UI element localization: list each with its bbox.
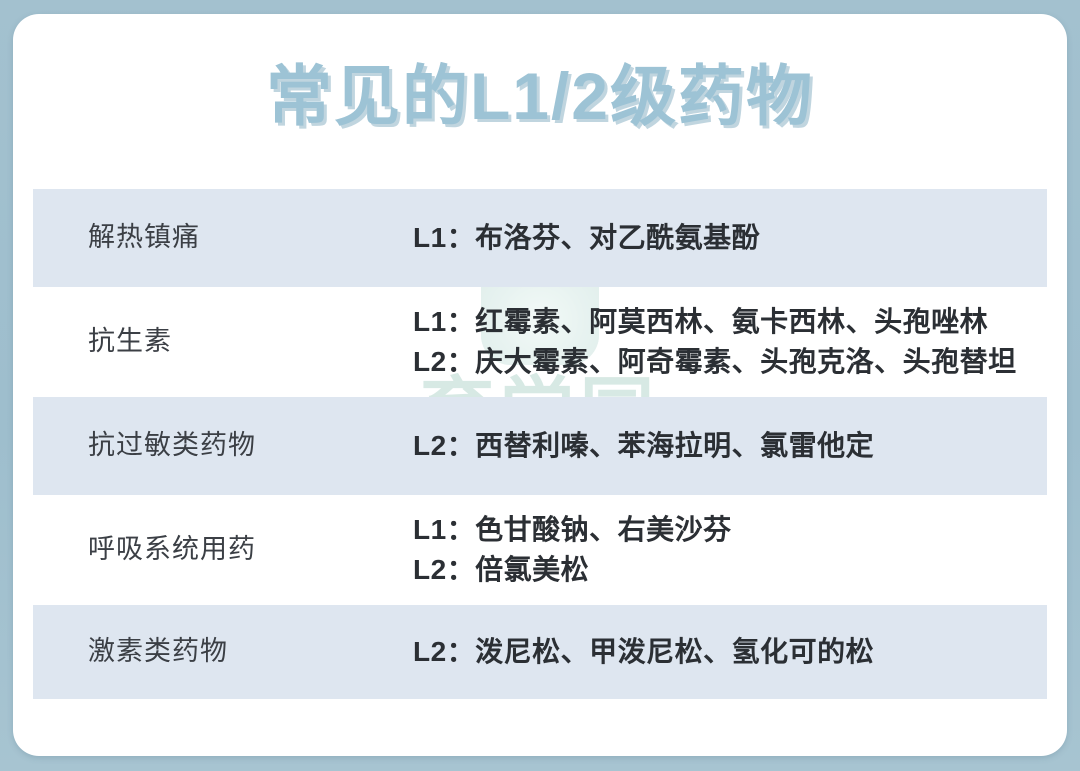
row-drugs: L1：布洛芬、对乙酰氨基酚 [413, 218, 1047, 258]
page-root: 育学园 我陪你长大 常见的L1/2级药物 解热镇痛 L1：布洛芬、对乙酰氨基酚 … [0, 0, 1080, 771]
row-category: 抗过敏类药物 [88, 428, 413, 463]
drug-line: L1：红霉素、阿莫西林、氨卡西林、头孢唑林 [413, 302, 1047, 342]
row-drugs: L1：色甘酸钠、右美沙芬 L2：倍氯美松 [413, 510, 1047, 590]
drug-line: L2：泼尼松、甲泼尼松、氢化可的松 [413, 632, 1047, 672]
page-title: 常见的L1/2级药物 [13, 58, 1067, 135]
drug-line: L2：倍氯美松 [413, 550, 1047, 590]
drug-line: L1：布洛芬、对乙酰氨基酚 [413, 218, 1047, 258]
drug-table: 解热镇痛 L1：布洛芬、对乙酰氨基酚 抗生素 L1：红霉素、阿莫西林、氨卡西林、… [33, 189, 1047, 699]
drug-line: L2：庆大霉素、阿奇霉素、头孢克洛、头孢替坦 [413, 342, 1047, 382]
drug-line: L2：西替利嗪、苯海拉明、氯雷他定 [413, 426, 1047, 466]
row-drugs: L1：红霉素、阿莫西林、氨卡西林、头孢唑林 L2：庆大霉素、阿奇霉素、头孢克洛、… [413, 302, 1047, 382]
drug-line: L1：色甘酸钠、右美沙芬 [413, 510, 1047, 550]
table-row: 抗过敏类药物 L2：西替利嗪、苯海拉明、氯雷他定 [33, 397, 1047, 495]
table-row: 抗生素 L1：红霉素、阿莫西林、氨卡西林、头孢唑林 L2：庆大霉素、阿奇霉素、头… [33, 287, 1047, 397]
content-card: 育学园 我陪你长大 常见的L1/2级药物 解热镇痛 L1：布洛芬、对乙酰氨基酚 … [13, 14, 1067, 756]
row-category: 激素类药物 [88, 634, 413, 669]
table-row: 解热镇痛 L1：布洛芬、对乙酰氨基酚 [33, 189, 1047, 287]
table-row: 呼吸系统用药 L1：色甘酸钠、右美沙芬 L2：倍氯美松 [33, 495, 1047, 605]
table-row: 激素类药物 L2：泼尼松、甲泼尼松、氢化可的松 [33, 605, 1047, 699]
row-category: 解热镇痛 [88, 220, 413, 255]
row-category: 抗生素 [88, 324, 413, 359]
row-category: 呼吸系统用药 [88, 532, 413, 567]
row-drugs: L2：西替利嗪、苯海拉明、氯雷他定 [413, 426, 1047, 466]
row-drugs: L2：泼尼松、甲泼尼松、氢化可的松 [413, 632, 1047, 672]
